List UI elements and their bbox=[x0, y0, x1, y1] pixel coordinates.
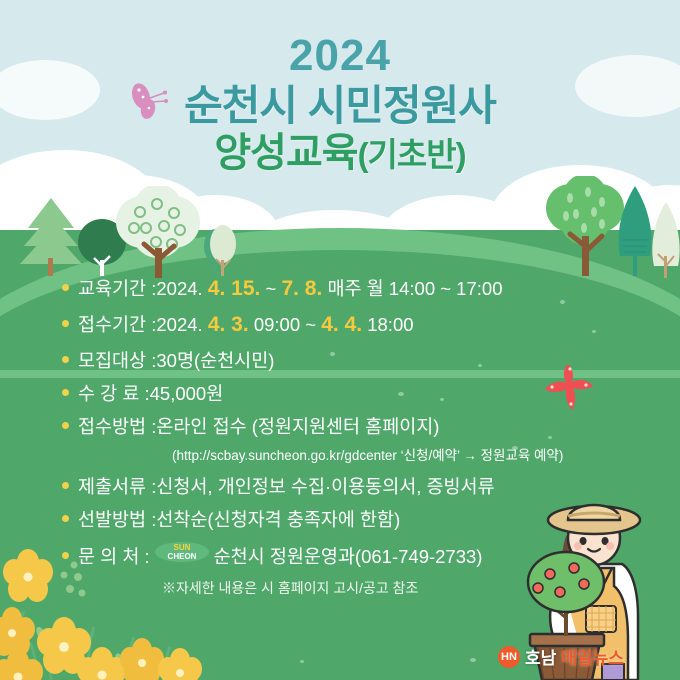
info-text: ~ bbox=[260, 278, 281, 299]
info-row: 문 의 처 :SUNCHEON 순천시 정원운영과(061-749-2733) bbox=[62, 541, 662, 568]
bullet-icon bbox=[62, 284, 69, 291]
info-row-value: 신청서, 개인정보 수집·이용동의서, 증빙서류 bbox=[156, 475, 494, 498]
info-text: 온라인 접수 (정원지원센터 홈페이지) bbox=[156, 416, 439, 437]
info-row-value: 2024. 4. 3. 09:00 ~ 4. 4. 18:00 bbox=[156, 312, 413, 338]
info-text: 45,000원 bbox=[150, 383, 224, 404]
bullet-icon bbox=[62, 552, 69, 559]
info-row: 접수방법 : 온라인 접수 (정원지원센터 홈페이지) bbox=[62, 415, 662, 438]
info-row: 수 강 료 : 45,000원 bbox=[62, 382, 662, 405]
watermark-text-second: 매일뉴스 bbox=[561, 644, 624, 669]
highlighted-date: 4. 3. bbox=[208, 313, 249, 336]
poster-title-line2: 양성교육(기초반) bbox=[0, 131, 680, 176]
info-row-value: 45,000원 bbox=[150, 382, 224, 405]
info-text: 신청서, 개인정보 수집·이용동의서, 증빙서류 bbox=[156, 476, 494, 497]
poster-title-line2-paren: (기초반) bbox=[358, 136, 466, 173]
tree-icon bbox=[206, 224, 240, 276]
bullet-icon bbox=[62, 515, 69, 522]
poster-year: 2024 bbox=[0, 34, 680, 78]
info-row-label: 접수기간 : bbox=[78, 313, 156, 336]
info-row-value: 온라인 접수 (정원지원센터 홈페이지) bbox=[156, 415, 439, 438]
info-row-label: 교육기간 : bbox=[78, 277, 156, 300]
info-list: 교육기간 : 2024. 4. 15. ~ 7. 8. 매주 월 14:00 ~… bbox=[62, 276, 662, 598]
info-row-label: 모집대상 : bbox=[78, 349, 156, 372]
highlighted-date: 4. 4. bbox=[321, 313, 362, 336]
info-row-label: 수 강 료 : bbox=[78, 382, 150, 405]
info-row-label: 선발방법 : bbox=[78, 508, 156, 531]
highlighted-date: 7. 8. bbox=[281, 277, 322, 300]
info-row: 선발방법 : 선착순(신청자격 충족자에 한함) bbox=[62, 508, 662, 531]
poster-root: 2024 순천시 시민정원사 양성교육(기초반) 교육기간 : 2024. 4.… bbox=[0, 0, 680, 680]
info-row-value: 선착순(신청자격 충족자에 한함) bbox=[156, 508, 400, 531]
bullet-icon bbox=[62, 482, 69, 489]
info-text: 2024. bbox=[156, 314, 207, 335]
info-row: 모집대상 : 30명(순천시민) bbox=[62, 349, 662, 372]
poster-title-line2-main: 양성교육 bbox=[214, 131, 357, 175]
info-text: 30명(순천시민) bbox=[156, 350, 274, 371]
suncheon-city-logo: SUNCHEON bbox=[154, 541, 210, 563]
info-row-value: 2024. 4. 15. ~ 7. 8. 매주 월 14:00 ~ 17:00 bbox=[156, 276, 502, 302]
poster-title-block: 2024 순천시 시민정원사 양성교육(기초반) bbox=[0, 34, 680, 176]
info-row: 접수기간 : 2024. 4. 3. 09:00 ~ 4. 4. 18:00 bbox=[62, 312, 662, 338]
watermark-badge-icon: HN bbox=[498, 646, 520, 668]
info-row: 제출서류 : 신청서, 개인정보 수집·이용동의서, 증빙서류 bbox=[62, 475, 662, 498]
info-text: 매주 월 14:00 ~ 17:00 bbox=[322, 278, 502, 299]
highlighted-date: 4. 15. bbox=[208, 277, 261, 300]
decorative-speck bbox=[300, 660, 304, 663]
poster-title-line1: 순천시 시민정원사 bbox=[0, 82, 680, 129]
svg-text:CHEON: CHEON bbox=[167, 552, 196, 561]
info-row-label: 접수방법 : bbox=[78, 415, 156, 438]
bullet-icon bbox=[62, 389, 69, 396]
tree-icon bbox=[112, 186, 204, 278]
footnote: ※자세한 내용은 시 홈페이지 고시/공고 참조 bbox=[162, 578, 662, 598]
tree-icon bbox=[646, 200, 680, 278]
info-row-label: 문 의 처 : bbox=[78, 545, 150, 568]
decorative-speck bbox=[470, 658, 476, 662]
info-text: 순천시 정원운영과(061-749-2733) bbox=[214, 546, 483, 567]
info-text: 09:00 ~ bbox=[249, 314, 322, 335]
info-row-value: 순천시 정원운영과(061-749-2733) bbox=[214, 545, 483, 568]
info-row-value: 30명(순천시민) bbox=[156, 349, 274, 372]
info-row-label: 제출서류 : bbox=[78, 475, 156, 498]
info-text: 18:00 bbox=[362, 314, 413, 335]
watermark-text-first: 호남 bbox=[525, 644, 556, 669]
bullet-icon bbox=[62, 422, 69, 429]
info-row-sub-line: (http://scbay.suncheon.go.kr/gdcenter ‘신… bbox=[172, 444, 662, 464]
svg-text:SUN: SUN bbox=[173, 543, 190, 552]
info-row: 교육기간 : 2024. 4. 15. ~ 7. 8. 매주 월 14:00 ~… bbox=[62, 276, 662, 302]
info-text: 2024. bbox=[156, 278, 207, 299]
bullet-icon bbox=[62, 356, 69, 363]
bullet-icon bbox=[62, 320, 69, 327]
info-text: 선착순(신청자격 충족자에 한함) bbox=[156, 509, 400, 530]
watermark-honam-daily-news: HN 호남 매일뉴스 bbox=[498, 644, 624, 669]
butterfly-icon bbox=[124, 80, 172, 126]
